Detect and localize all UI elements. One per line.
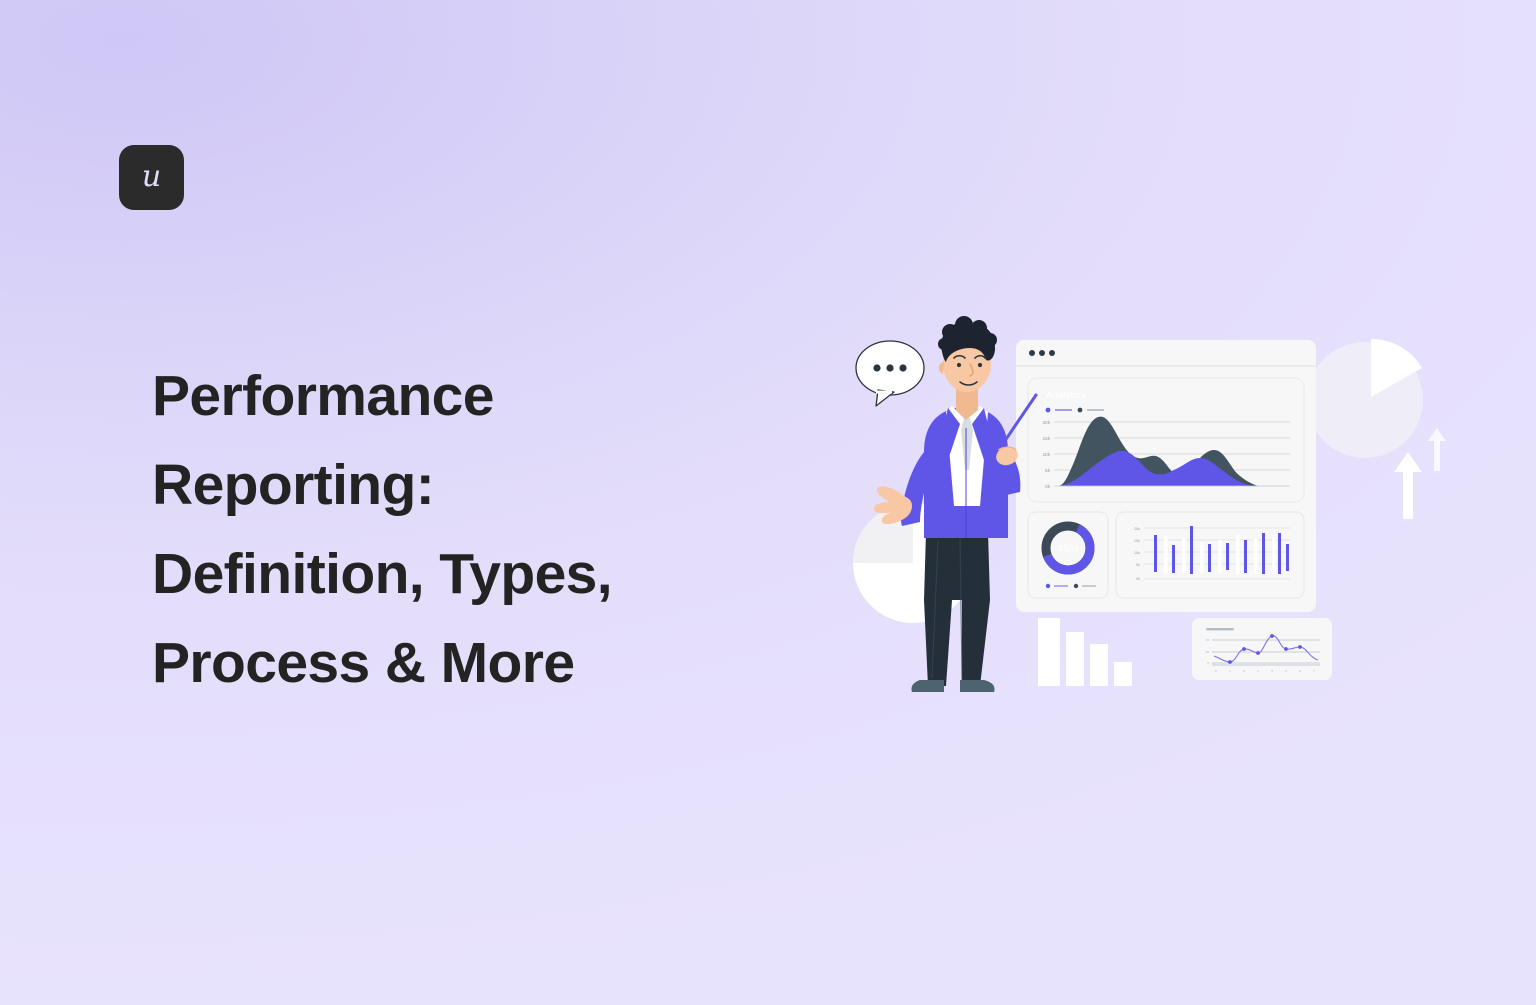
decor-pie-right — [1307, 339, 1423, 458]
donut-chart-card: 45% — [1028, 512, 1108, 598]
y-tick-0k: 0k — [1045, 484, 1051, 489]
bar-y-tick-15k: 15k — [1134, 539, 1140, 543]
speech-bubble-dots-icon — [873, 364, 906, 371]
floating-bar-chart-card: 20k 15k 10k 5k 0k — [1116, 512, 1304, 598]
bar-y-tick-5k: 5k — [1136, 563, 1140, 567]
decor-arrow-large-icon — [1394, 452, 1422, 519]
analytics-chart-title: Analytics — [1046, 390, 1086, 400]
title-line-2: Reporting: — [152, 453, 434, 517]
mini-card-title-placeholder — [1206, 628, 1234, 630]
hero-illustration: Analytics 20k 15k 10k 5k 0k — [820, 300, 1500, 740]
brand-logo[interactable]: u — [119, 145, 184, 210]
title-line-4: Process & More — [152, 631, 574, 695]
dashboard-window: Analytics 20k 15k 10k 5k 0k — [1016, 340, 1316, 612]
bar-y-tick-0k: 0k — [1136, 577, 1140, 581]
mini-y-tick-10: 10 — [1206, 650, 1210, 654]
y-tick-10k: 10k — [1043, 452, 1051, 457]
mini-y-tick-15: 15 — [1206, 638, 1210, 642]
title-line-1: Performance — [152, 364, 494, 428]
decor-arrow-small-icon — [1428, 428, 1446, 471]
window-controls-icon[interactable] — [1029, 350, 1055, 356]
y-tick-5k: 5k — [1045, 468, 1051, 473]
bar-y-tick-20k: 20k — [1134, 527, 1140, 531]
character-ear — [939, 362, 944, 374]
y-tick-15k: 15k — [1043, 436, 1051, 441]
speech-bubble — [856, 341, 924, 406]
analytics-area-chart: Analytics 20k 15k 10k 5k 0k — [1028, 378, 1304, 502]
bar-y-tick-10k: 10k — [1134, 551, 1140, 555]
mini-line-chart-card: 15 10 5 0 1 2 3 4 5 6 7 — [1192, 618, 1332, 680]
decor-white-bars — [1038, 618, 1132, 686]
title-line-3: Definition, Types, — [152, 542, 612, 606]
brand-logo-glyph: u — [142, 162, 161, 192]
y-tick-20k: 20k — [1043, 420, 1051, 425]
character-trousers — [924, 532, 990, 686]
page-title: Performance Reporting: Definition, Types… — [152, 352, 772, 708]
donut-center-label: 45% — [1057, 543, 1079, 555]
character-shoes — [911, 680, 994, 692]
